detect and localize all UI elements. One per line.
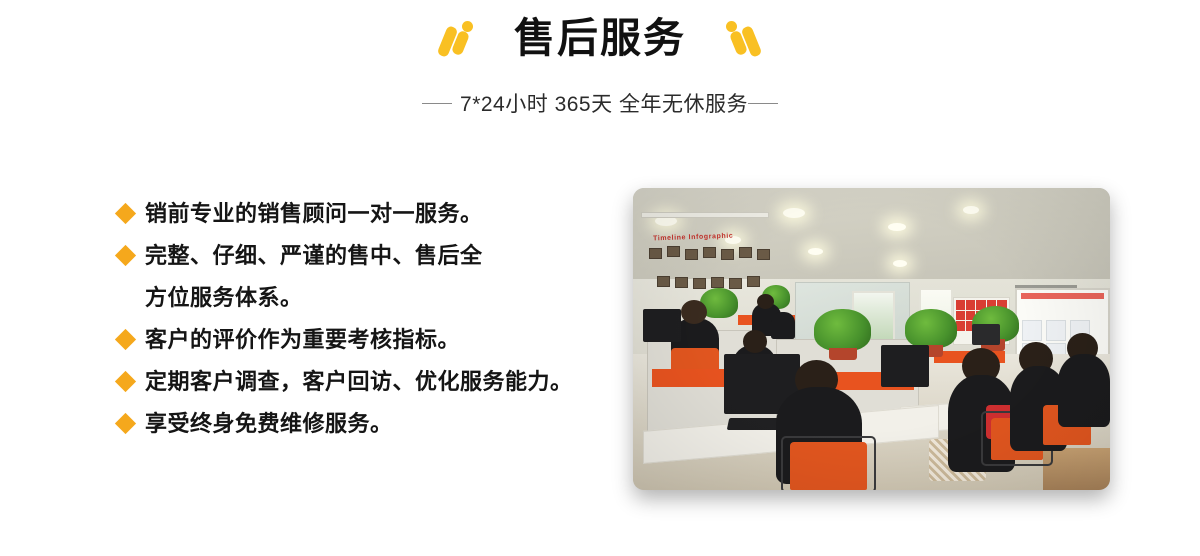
list-item-label: 方位服务体系。: [145, 284, 303, 312]
office-plant: [905, 309, 957, 348]
office-worker: [771, 312, 795, 339]
subtitle-rule-left: [422, 103, 452, 104]
list-item-label: 完整、仔细、严谨的售中、售后全: [145, 242, 483, 270]
service-list: 销前专业的销售顾问一对一服务。 完整、仔细、严谨的售中、售后全 方位服务体系。 …: [118, 200, 618, 452]
title-row: 售后服务: [0, 18, 1200, 59]
ceiling-light-icon: [808, 248, 823, 255]
office-worker-head: [681, 300, 707, 324]
list-item-label: 销前专业的销售顾问一对一服务。: [145, 200, 483, 228]
list-item-label: 客户的评价作为重要考核指标。: [145, 326, 460, 354]
subtitle-row: 7*24小时 365天 全年无休服务: [0, 88, 1200, 118]
office-chair: [790, 442, 866, 490]
list-item: 定期客户调查，客户回访、优化服务能力。: [118, 368, 618, 410]
computer-monitor: [643, 309, 681, 342]
ceiling-light-icon: [893, 260, 907, 267]
wood-floor-patch: [1043, 448, 1110, 490]
office-worker-head: [743, 330, 767, 353]
office-plant: [814, 309, 871, 351]
whiteboard-card: [1046, 320, 1066, 341]
computer-monitor: [881, 345, 929, 387]
deco-right-dot: [726, 21, 737, 32]
deco-left-dot: [462, 21, 473, 32]
list-item-label: 定期客户调查，客户回访、优化服务能力。: [145, 368, 573, 396]
ceiling-light-icon: [783, 208, 805, 218]
list-item: 客户的评价作为重要考核指标。: [118, 326, 618, 368]
orange-diamond-icon: [115, 371, 136, 392]
orange-diamond-icon: [115, 245, 136, 266]
page-title: 售后服务: [514, 18, 686, 59]
office-worker-head: [757, 294, 774, 309]
orange-diamond-icon: [115, 329, 136, 350]
page-subtitle: 7*24小时 365天 全年无休服务: [460, 88, 748, 118]
office-worker: [1058, 354, 1110, 426]
header-section: 售后服务 7*24小时 365天 全年无休服务: [0, 0, 1200, 140]
decorative-slash-left-icon: [440, 19, 478, 59]
office-photo-content: Timeline Infographic: [633, 188, 1110, 490]
whiteboard-card: [1022, 320, 1042, 341]
list-item: 完整、仔细、严谨的售中、售后全: [118, 242, 618, 284]
ceiling-light-icon: [963, 206, 979, 214]
orange-diamond-icon: [115, 413, 136, 434]
list-item-label: 享受终身免费维修服务。: [145, 410, 393, 438]
office-photo: Timeline Infographic: [633, 188, 1110, 490]
whiteboard-header-banner: [1021, 293, 1104, 299]
wall-timeline-strip: [641, 212, 769, 218]
wall-photo-frames: [647, 246, 779, 290]
decorative-slash-right-icon: [722, 19, 760, 59]
ceiling-light-icon: [888, 223, 906, 231]
list-item: 享受终身免费维修服务。: [118, 410, 618, 452]
subtitle-rule-right: [748, 103, 778, 104]
list-item-continuation: 方位服务体系。: [118, 284, 618, 326]
bullet-spacer: [115, 287, 136, 308]
list-item: 销前专业的销售顾问一对一服务。: [118, 200, 618, 242]
plant-pot: [829, 348, 858, 360]
orange-diamond-icon: [115, 203, 136, 224]
computer-monitor: [972, 324, 1001, 345]
